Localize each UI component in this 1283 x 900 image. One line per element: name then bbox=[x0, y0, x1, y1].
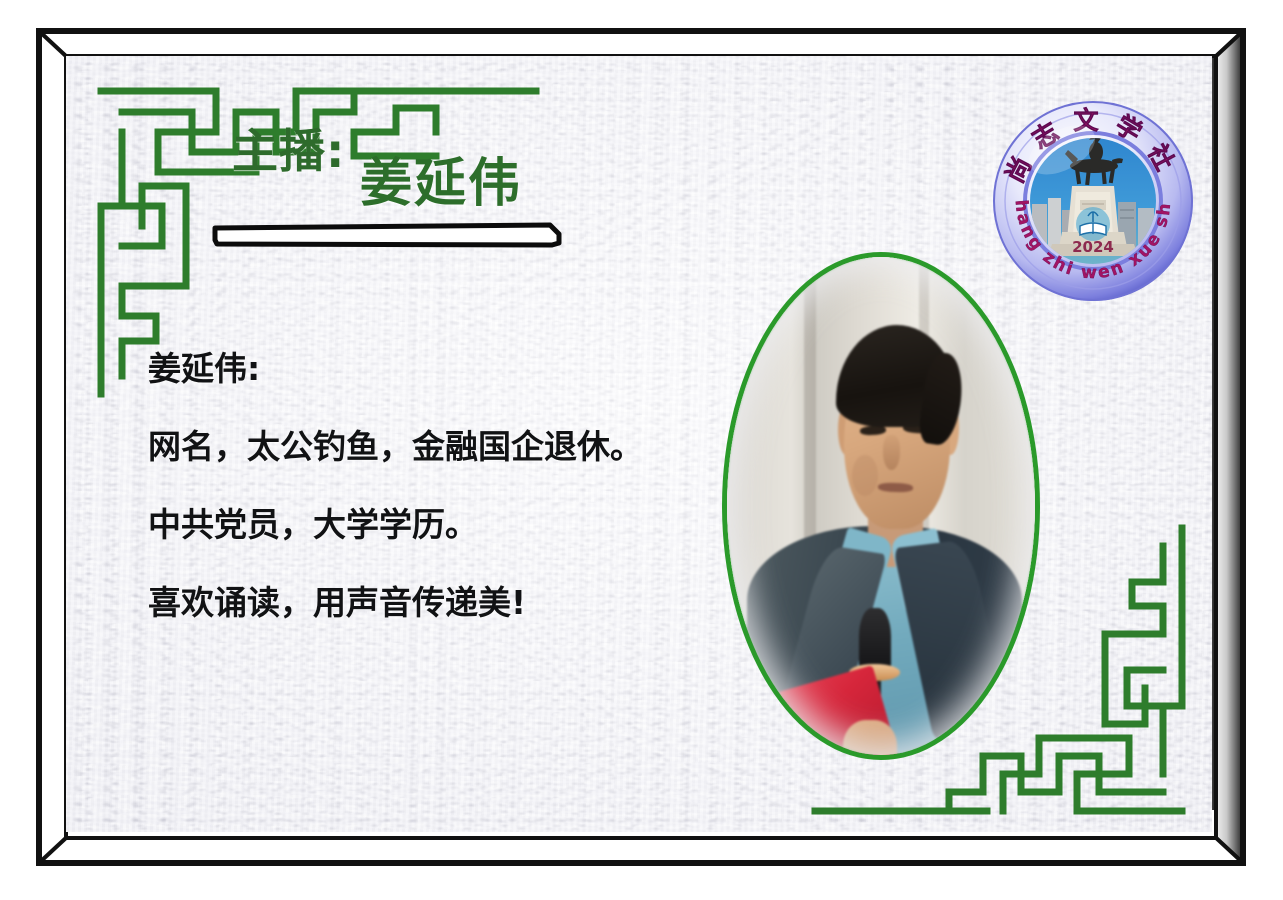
poster-card: 主播: 姜延伟 姜延伟: 网名，太公钓鱼，金融国企退休。 中共党员，大学学历。 … bbox=[0, 0, 1283, 900]
logo-graphic: 2024 尚志文学社 shang zhi wen xue she bbox=[992, 100, 1194, 302]
bio-name-line: 姜延伟: bbox=[148, 352, 728, 385]
host-name: 姜延伟 bbox=[360, 158, 522, 210]
title-block: 主播: 姜延伟 bbox=[232, 128, 345, 174]
bio-text-block: 姜延伟: 网名，太公钓鱼，金融国企退休。 中共党员，大学学历。 喜欢诵读，用声音… bbox=[148, 352, 728, 619]
bio-line-1: 网名，太公钓鱼，金融国企退休。 bbox=[148, 430, 728, 463]
society-logo-badge: 2024 尚志文学社 shang zhi wen xue she bbox=[992, 100, 1194, 302]
role-label: 主播: bbox=[232, 128, 345, 174]
portrait-photo bbox=[722, 252, 1040, 760]
bio-line-2: 中共党员，大学学历。 bbox=[148, 508, 728, 541]
logo-year: 2024 bbox=[1072, 238, 1114, 256]
portrait-oval-frame bbox=[722, 252, 1040, 760]
bio-line-3: 喜欢诵读，用声音传递美! bbox=[148, 586, 728, 619]
title-underline-bar bbox=[212, 222, 562, 248]
